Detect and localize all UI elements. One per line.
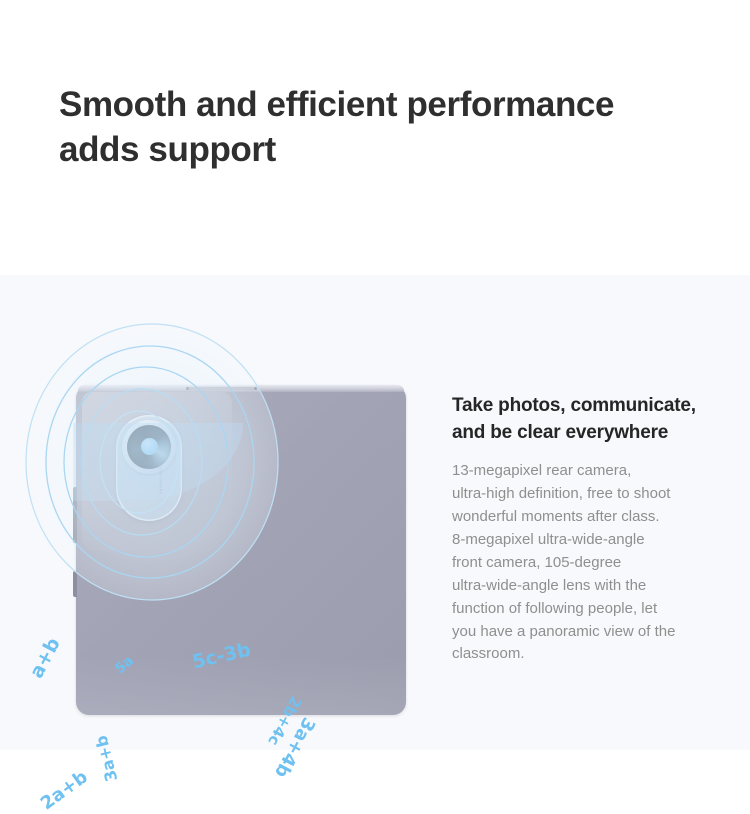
- camera-lens-icon: [127, 425, 171, 469]
- tablet-antenna-dot-left: [186, 387, 189, 390]
- feature-heading-line-2: and be clear everywhere: [452, 420, 740, 447]
- camera-module: 13 MP CAMERA: [116, 415, 182, 521]
- feature-description-line-4: 8-megapixel ultra-wide-angle: [452, 529, 740, 552]
- feature-description-line-7: function of following people, let: [452, 598, 740, 621]
- annotation-a-plus-b: a+b: [26, 634, 65, 682]
- feature-heading: Take photos, communicate, and be clear e…: [452, 393, 740, 447]
- page-title-line-1: Smooth and efficient performance: [59, 83, 719, 127]
- annotation-2a-plus-b: 2a+b: [37, 767, 92, 814]
- page-title-line-2: adds support: [59, 128, 719, 172]
- feature-description-line-3: wonderful moments after class.: [452, 506, 740, 529]
- feature-description-line-8: you have a panoramic view of the: [452, 621, 740, 644]
- feature-description: 13-megapixel rear camera, ultra-high def…: [452, 460, 740, 666]
- tablet-volume-button: [73, 487, 77, 543]
- feature-description-line-6: ultra-wide-angle lens with the: [452, 575, 740, 598]
- tablet-antenna-band: [188, 386, 254, 391]
- feature-copy: Take photos, communicate, and be clear e…: [452, 393, 740, 666]
- feature-description-line-2: ultra-high definition, free to shoot: [452, 483, 740, 506]
- tablet-power-button: [73, 571, 77, 597]
- annotation-3a-plus-b: 3a+b: [92, 733, 122, 783]
- camera-lens-ring: [122, 420, 176, 474]
- feature-description-line-9: classroom.: [452, 643, 740, 666]
- feature-heading-line-1: Take photos, communicate,: [452, 393, 740, 420]
- feature-description-line-5: front camera, 105-degree: [452, 552, 740, 575]
- camera-spec-label: 13 MP CAMERA: [158, 461, 163, 497]
- camera-aperture-icon: [141, 438, 158, 455]
- hero-section: Smooth and efficient performance adds su…: [0, 0, 750, 275]
- feature-panel: 13 MP CAMERA a+b 5a 5c-3b 2b+4c 3a+: [0, 275, 750, 750]
- feature-description-line-1: 13-megapixel rear camera,: [452, 460, 740, 483]
- page-title: Smooth and efficient performance adds su…: [59, 83, 719, 171]
- camera-visual: 13 MP CAMERA a+b 5a 5c-3b 2b+4c 3a+: [0, 275, 440, 750]
- tablet-antenna-dot-right: [254, 387, 257, 390]
